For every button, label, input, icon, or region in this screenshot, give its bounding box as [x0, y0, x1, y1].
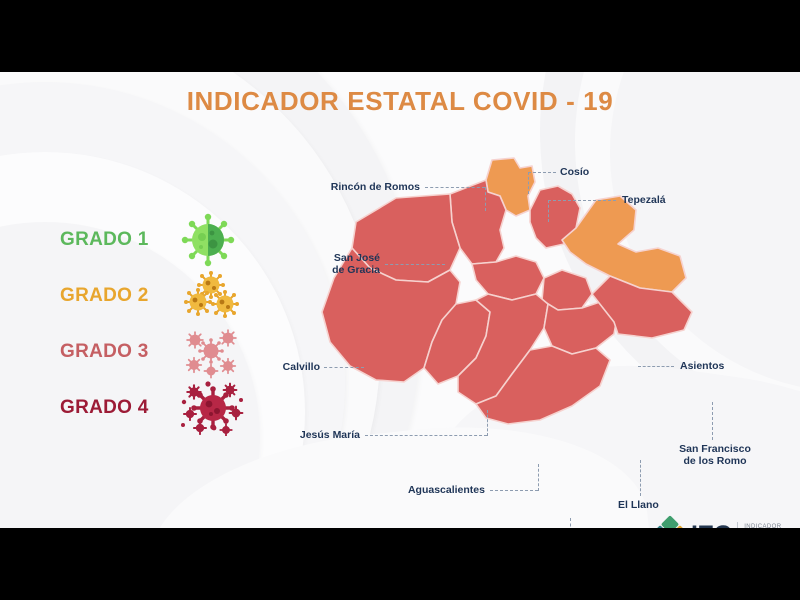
legend-label-grado-3: GRADO 3	[60, 341, 178, 363]
leader-line-tepezala-v	[548, 200, 549, 222]
virus-crimson-icon	[178, 380, 256, 436]
leader-line-rincon-v	[485, 187, 486, 211]
leader-line-cosio-v	[528, 172, 529, 194]
leader-line-aguascalientes-v	[538, 464, 539, 491]
leader-line-pabellon-v	[570, 518, 571, 528]
map-label-jesus-maria[interactable]: Jesús María	[220, 429, 360, 441]
letterbox-top	[0, 0, 800, 72]
leader-line-cosio	[528, 172, 556, 173]
leader-line-san-jose	[385, 264, 445, 265]
infographic-slide: INDICADOR ESTATAL COVID - 19 GRADO 1	[0, 72, 800, 528]
leader-line-san-francisco	[712, 402, 713, 440]
legend-item-grado-2: GRADO 2	[60, 268, 275, 324]
map-label-san-jose-line2: de Gracia	[230, 264, 380, 276]
leader-line-jesus-maria-v	[487, 410, 488, 436]
leader-line-rincon	[425, 187, 485, 188]
map-label-rincon-de-romos[interactable]: Rincón de Romos	[250, 181, 420, 193]
legend-label-grado-1: GRADO 1	[60, 229, 178, 251]
map-label-san-jose-line1: San José	[230, 252, 380, 264]
map-label-san-francisco-line1: San Francisco	[660, 443, 770, 455]
iec-wordmark: IEC	[691, 521, 731, 529]
map-label-asientos[interactable]: Asientos	[680, 360, 724, 372]
map-label-aguascalientes[interactable]: Aguascalientes	[330, 484, 485, 496]
leader-line-jesus-maria	[365, 435, 487, 436]
letterbox-bottom	[0, 528, 800, 600]
slide-stage: INDICADOR ESTATAL COVID - 19 GRADO 1	[0, 0, 800, 600]
map-label-cosio[interactable]: Cosío	[560, 166, 589, 178]
map-label-san-francisco-line2: de los Romo	[660, 455, 770, 467]
virus-orange-icon	[178, 268, 256, 324]
map-label-san-jose-de-gracia[interactable]: San José de Gracia	[230, 252, 380, 276]
leader-line-aguascalientes	[490, 490, 538, 491]
leader-line-calvillo	[324, 367, 364, 368]
leader-line-asientos	[638, 366, 674, 367]
map-label-tepezala[interactable]: Tepezalá	[622, 194, 666, 206]
map-label-calvillo[interactable]: Calvillo	[200, 361, 320, 373]
severity-legend: GRADO 1	[60, 212, 275, 436]
legend-item-grado-4: GRADO 4	[60, 380, 275, 436]
legend-label-grado-4: GRADO 4	[60, 397, 178, 419]
leader-line-el-llano	[640, 460, 641, 496]
page-title: INDICADOR ESTATAL COVID - 19	[0, 86, 800, 117]
leader-line-tepezala	[548, 200, 616, 201]
iec-logo[interactable]: IEC INDICADOR ESTATAL COVID	[655, 520, 781, 528]
legend-label-grado-2: GRADO 2	[60, 285, 178, 307]
map-label-san-francisco-de-los-romo[interactable]: San Francisco de los Romo	[660, 443, 770, 467]
map-region-pabellon-de-arteaga	[472, 256, 544, 300]
map-label-el-llano[interactable]: El Llano	[618, 499, 659, 511]
